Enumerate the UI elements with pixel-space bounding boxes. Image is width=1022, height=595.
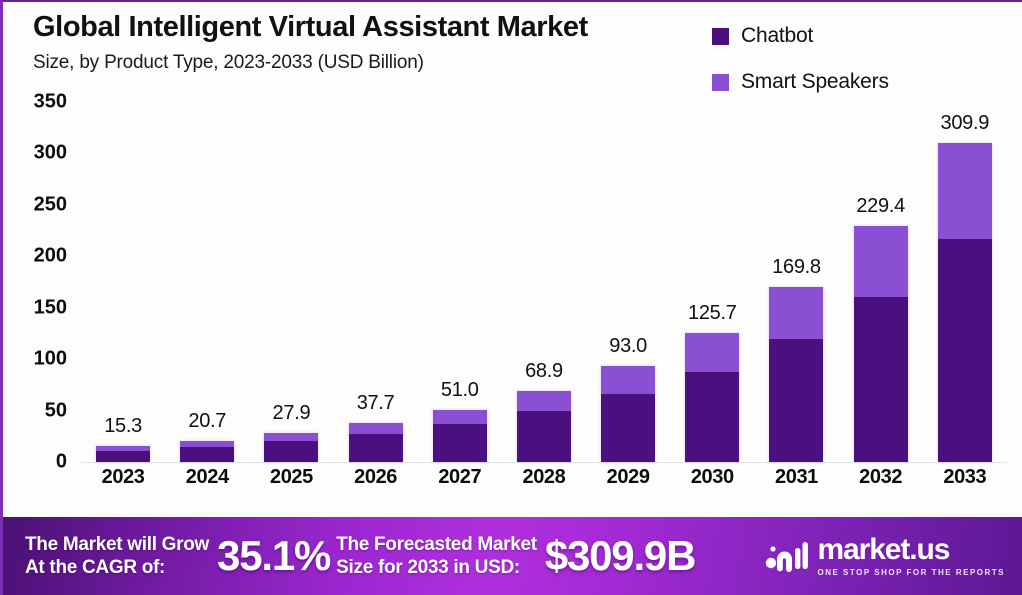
bar-value-label: 229.4 <box>856 195 905 218</box>
x-axis: 2023202420252026202720282029203020312032… <box>81 466 1007 489</box>
x-axis-tick-label: 2025 <box>263 466 319 489</box>
stacked-bar[interactable] <box>180 441 234 462</box>
legend-item-chatbot[interactable]: Chatbot <box>712 24 992 48</box>
legend-item-smart-speakers[interactable]: Smart Speakers <box>712 70 992 94</box>
x-axis-tick-label: 2029 <box>600 466 656 489</box>
chart-infographic: Global Intelligent Virtual Assistant Mar… <box>0 0 1022 595</box>
bar-segment-chatbot[interactable] <box>264 441 318 462</box>
cagr-block: The Market will Grow At the CAGR of: 35.… <box>25 532 336 580</box>
bar-group-2025[interactable]: 27.9 <box>263 102 319 462</box>
bar-value-label: 20.7 <box>188 410 226 433</box>
x-axis-tick-label: 2032 <box>853 466 909 489</box>
market-us-logo[interactable]: market.us ONE STOP SHOP FOR THE REPORTS <box>764 535 1005 577</box>
bar-segment-smart-speakers[interactable] <box>769 287 823 338</box>
bar-segment-smart-speakers[interactable] <box>517 391 571 411</box>
cagr-value: 35.1% <box>217 532 330 580</box>
bar-segment-smart-speakers[interactable] <box>433 410 487 425</box>
stacked-bar[interactable] <box>685 333 739 462</box>
forecast-label-line2: Size for 2033 in USD: <box>336 557 520 578</box>
legend-swatch-icon <box>712 28 729 45</box>
bar-segment-smart-speakers[interactable] <box>938 143 992 239</box>
logo-text: market.us ONE STOP SHOP FOR THE REPORTS <box>817 535 1005 577</box>
x-axis-tick-label: 2030 <box>684 466 740 489</box>
y-axis-tick-label: 350 <box>34 91 67 114</box>
page-title: Global Intelligent Virtual Assistant Mar… <box>33 12 733 44</box>
bar-segment-smart-speakers[interactable] <box>264 433 318 441</box>
x-axis-tick-label: 2024 <box>179 466 235 489</box>
bar-segment-smart-speakers[interactable] <box>854 226 908 297</box>
cagr-label: The Market will Grow At the CAGR of: <box>25 533 209 579</box>
chart-subtitle: Size, by Product Type, 2023-2033 (USD Bi… <box>33 52 733 74</box>
bar-segment-chatbot[interactable] <box>433 424 487 462</box>
x-axis-tick-label: 2026 <box>348 466 404 489</box>
bar-segment-smart-speakers[interactable] <box>685 333 739 372</box>
bar-value-label: 15.3 <box>104 415 142 438</box>
bar-group-2029[interactable]: 93.0 <box>600 102 656 462</box>
chart-header: Global Intelligent Virtual Assistant Mar… <box>33 12 733 74</box>
y-axis-tick-label: 200 <box>34 245 67 268</box>
stacked-bar[interactable] <box>517 391 571 462</box>
footer-banner: The Market will Grow At the CAGR of: 35.… <box>3 517 1022 595</box>
stacked-bar[interactable] <box>601 366 655 462</box>
bar-value-label: 27.9 <box>273 402 311 425</box>
bar-value-label: 169.8 <box>772 256 821 279</box>
bar-segment-chatbot[interactable] <box>96 451 150 462</box>
legend-label: Chatbot <box>741 24 813 48</box>
bar-segment-chatbot[interactable] <box>685 372 739 463</box>
cagr-label-line1: The Market will Grow <box>25 534 209 555</box>
plot-area: 050100150200250300350 15.320.727.937.751… <box>3 102 1022 502</box>
bar-value-label: 125.7 <box>688 302 737 325</box>
bar-group-2028[interactable]: 68.9 <box>516 102 572 462</box>
bar-value-label: 51.0 <box>441 379 479 402</box>
y-axis-tick-label: 300 <box>34 142 67 165</box>
forecast-value: $309.9B <box>545 532 695 580</box>
y-axis-tick-label: 150 <box>34 296 67 319</box>
x-axis-tick-label: 2023 <box>95 466 151 489</box>
bars-container: 15.320.727.937.751.068.993.0125.7169.822… <box>81 102 1007 463</box>
x-axis-tick-label: 2031 <box>768 466 824 489</box>
y-axis-tick-label: 250 <box>34 193 67 216</box>
y-axis: 050100150200250300350 <box>3 102 75 462</box>
bar-group-2027[interactable]: 51.0 <box>432 102 488 462</box>
bar-value-label: 37.7 <box>357 392 395 415</box>
stacked-bar[interactable] <box>769 287 823 462</box>
bar-value-label: 309.9 <box>941 112 990 135</box>
x-axis-tick-label: 2033 <box>937 466 993 489</box>
bar-segment-chatbot[interactable] <box>938 239 992 462</box>
stacked-bar[interactable] <box>433 410 487 462</box>
bar-segment-smart-speakers[interactable] <box>349 423 403 434</box>
forecast-label: The Forecasted Market Size for 2033 in U… <box>336 533 537 579</box>
bar-segment-chatbot[interactable] <box>601 394 655 462</box>
y-axis-tick-label: 0 <box>56 451 67 474</box>
bar-segment-smart-speakers[interactable] <box>601 366 655 394</box>
legend-label: Smart Speakers <box>741 70 889 94</box>
legend-swatch-icon <box>712 74 729 91</box>
bar-group-2030[interactable]: 125.7 <box>684 102 740 462</box>
forecast-label-line1: The Forecasted Market <box>336 534 537 555</box>
bar-group-2023[interactable]: 15.3 <box>95 102 151 462</box>
stacked-bar[interactable] <box>854 226 908 462</box>
bar-segment-chatbot[interactable] <box>180 447 234 462</box>
y-axis-tick-label: 50 <box>45 399 67 422</box>
cagr-label-line2: At the CAGR of: <box>25 557 165 578</box>
bar-group-2026[interactable]: 37.7 <box>348 102 404 462</box>
bar-segment-chatbot[interactable] <box>517 411 571 462</box>
bar-group-2032[interactable]: 229.4 <box>853 102 909 462</box>
logo-wordmark: market.us <box>817 535 1005 565</box>
stacked-bar[interactable] <box>938 143 992 462</box>
x-axis-tick-label: 2027 <box>432 466 488 489</box>
bar-segment-chatbot[interactable] <box>349 434 403 462</box>
forecast-block: The Forecasted Market Size for 2033 in U… <box>336 532 701 580</box>
logo-tagline: ONE STOP SHOP FOR THE REPORTS <box>817 568 1005 577</box>
y-axis-tick-label: 100 <box>34 348 67 371</box>
bar-value-label: 68.9 <box>525 360 563 383</box>
bar-group-2024[interactable]: 20.7 <box>179 102 235 462</box>
bar-segment-chatbot[interactable] <box>769 339 823 462</box>
bar-segment-chatbot[interactable] <box>854 297 908 462</box>
stacked-bar[interactable] <box>96 446 150 462</box>
bar-value-label: 93.0 <box>609 335 647 358</box>
bar-group-2033[interactable]: 309.9 <box>937 102 993 462</box>
stacked-bar[interactable] <box>264 433 318 462</box>
bar-chart-logo-icon <box>764 539 808 573</box>
x-axis-tick-label: 2028 <box>516 466 572 489</box>
bar-group-2031[interactable]: 169.8 <box>768 102 824 462</box>
stacked-bar[interactable] <box>349 423 403 462</box>
